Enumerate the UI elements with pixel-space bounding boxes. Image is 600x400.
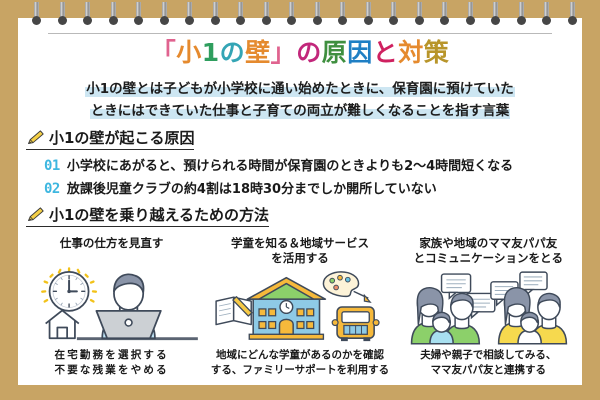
page-title: 「小1の壁」の原因と対策 bbox=[0, 38, 600, 68]
title-char-10: 対 bbox=[398, 38, 424, 67]
title-char-5: 」 bbox=[271, 38, 297, 67]
column-title: 学童を知る＆地域サービス を活用する bbox=[231, 236, 369, 268]
column-title: 仕事の仕方を見直す bbox=[60, 236, 164, 268]
header-divider bbox=[48, 33, 552, 34]
section-heading-label: 小1の壁が起こる原因 bbox=[49, 127, 194, 148]
title-char-7: 原 bbox=[322, 38, 348, 67]
title-char-6: の bbox=[296, 38, 322, 67]
title-char-4: 壁 bbox=[245, 38, 271, 67]
column-caption: 在宅勤務を選択する 不要な残業をやめる bbox=[55, 348, 169, 378]
title-char-3: の bbox=[220, 38, 246, 67]
infographic-page: 「小1の壁」の原因と対策 小1の壁とは子どもが小学校に通い始めたときに、保育園に… bbox=[0, 0, 600, 400]
list-number: 01 bbox=[44, 158, 60, 174]
subtitle-line-1: 小1の壁とは子どもが小学校に通い始めたときに、保育園に預けていた bbox=[30, 78, 570, 100]
list-item-text: 放課後児童クラブの約4割は18時30分までしか開所していない bbox=[67, 178, 437, 197]
cause-list-item-2: 02 放課後児童クラブの約4割は18時30分までしか開所していない bbox=[44, 178, 437, 197]
cause-list-item-1: 01 小学校にあがると、預けられる時間が保育園のときよりも2〜4時間短くなる bbox=[44, 155, 513, 174]
subtitle-line-2: ときにはできていた仕事と子育ての両立が難しくなることを指す言葉 bbox=[30, 100, 570, 122]
section-heading-label: 小1の壁を乗り越えるための方法 bbox=[49, 204, 269, 225]
families-talking-illustration bbox=[395, 268, 582, 346]
column-caption: 夫婦や親子で相談してみる、 ママ友パパ友と連携する bbox=[420, 348, 556, 378]
school-building-illustration bbox=[206, 268, 393, 346]
solutions-columns: 仕事の仕方を見直す bbox=[18, 236, 582, 382]
column-title: 家族や地域のママ友パパ友 とコミュニケーションをとる bbox=[414, 236, 563, 268]
pencil-icon bbox=[26, 206, 46, 223]
title-char-11: 策 bbox=[424, 38, 450, 67]
title-char-8: 因 bbox=[347, 38, 373, 67]
pencil-icon bbox=[26, 129, 46, 146]
solution-column-work: 仕事の仕方を見直す bbox=[18, 236, 205, 382]
title-char-1: 小 bbox=[176, 38, 202, 67]
solution-column-communication: 家族や地域のママ友パパ友 とコミュニケーションをとる bbox=[394, 236, 582, 382]
title-char-0: 「 bbox=[151, 38, 177, 67]
list-item-text: 小学校にあがると、預けられる時間が保育園のときよりも2〜4時間短くなる bbox=[67, 155, 513, 174]
title-char-2: 1 bbox=[202, 38, 220, 67]
solution-column-school: 学童を知る＆地域サービス を活用する bbox=[205, 236, 393, 382]
title-char-9: と bbox=[373, 38, 399, 67]
column-caption: 地域にどんな学童があるのかを確認 する、ファミリーサポートを利用する bbox=[211, 348, 389, 378]
subtitle-text: 小1の壁とは子どもが小学校に通い始めたときに、保育園に預けていた ときにはできて… bbox=[30, 78, 570, 122]
section-heading-causes: 小1の壁が起こる原因 bbox=[26, 127, 194, 150]
remote-work-illustration bbox=[18, 268, 205, 346]
list-number: 02 bbox=[44, 181, 60, 197]
section-heading-solutions: 小1の壁を乗り越えるための方法 bbox=[26, 204, 269, 227]
